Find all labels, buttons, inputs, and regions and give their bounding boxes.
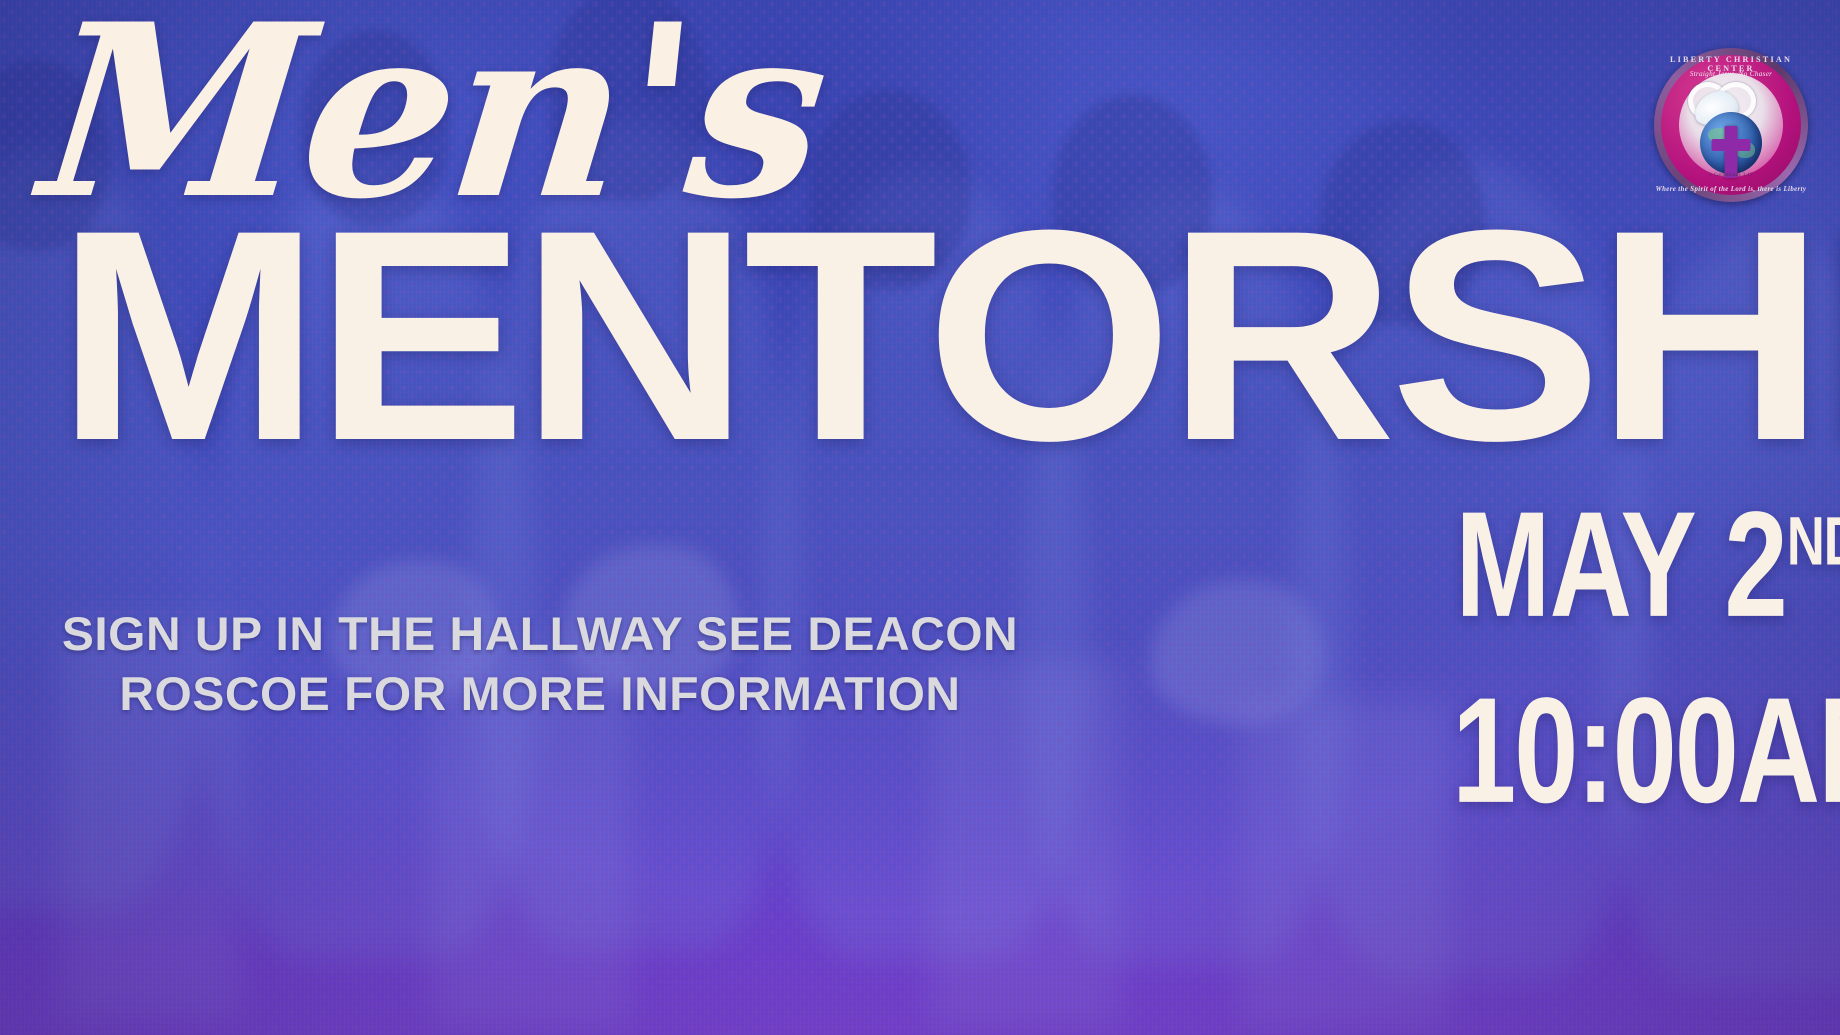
event-time: 10:00AM: [1452, 676, 1792, 826]
event-date-ordinal-suffix: ND: [1787, 502, 1840, 580]
page-title: MENTORSHIP: [56, 206, 1840, 464]
signup-instructions: SIGN UP IN THE HALLWAY SEE DEACON ROSCOE…: [50, 604, 1029, 724]
signup-instructions-line2: ROSCOE FOR MORE INFORMATION: [50, 664, 1029, 724]
event-date-text: MAY 2: [1455, 481, 1786, 649]
event-date: MAY 2ND: [1455, 490, 1792, 640]
logo-motto: Where the Spirit of the Lord is, there i…: [1654, 186, 1808, 193]
logo-scripture-reference: 2 Corinthians 3:17: [1654, 172, 1808, 178]
event-datetime: MAY 2ND 10:00AM: [1462, 528, 1792, 826]
liberty-christian-center-logo: LIBERTY CHRISTIAN CENTER Straight Jesus,…: [1654, 48, 1808, 202]
signup-instructions-line1: SIGN UP IN THE HALLWAY SEE DEACON: [62, 607, 1018, 660]
cross-icon: [1725, 126, 1738, 178]
mens-mentorship-flyer: Men's MENTORSHIP SIGN UP IN THE HALLWAY …: [0, 0, 1840, 1035]
